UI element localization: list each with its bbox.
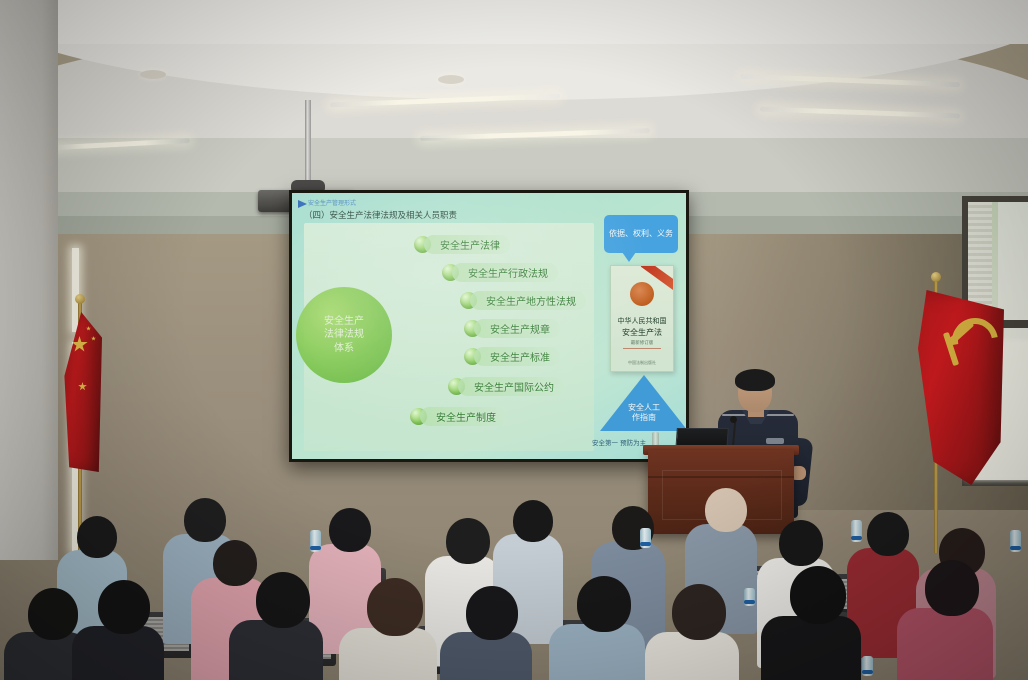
microphone-icon bbox=[730, 416, 737, 423]
bottle-label bbox=[640, 542, 651, 546]
item-label: 安全生产国际公约 bbox=[474, 379, 554, 394]
audience-head bbox=[98, 580, 150, 634]
book-subtitle: 最新修订版 bbox=[611, 340, 673, 346]
slide-speech-bubble: 依据、权利、义务 bbox=[604, 215, 678, 253]
book-title-line-2: 安全生产法 bbox=[611, 327, 673, 338]
bottle-label bbox=[310, 546, 321, 550]
circle-line-2: 法律法规 bbox=[324, 328, 364, 342]
flagpole-finial-left bbox=[75, 294, 85, 304]
left-pillar bbox=[0, 0, 58, 560]
book-title-line-1: 中华人民共和国 bbox=[611, 316, 673, 326]
speech-bubble-tail-icon bbox=[622, 252, 636, 262]
triangle-line-1: 安全人工 bbox=[602, 403, 686, 413]
audience-torso bbox=[72, 626, 164, 680]
audience-head bbox=[867, 512, 909, 556]
item-label: 安全生产标准 bbox=[490, 349, 550, 364]
audience-head bbox=[577, 576, 631, 632]
law-book-image: 中华人民共和国 安全生产法 最新修订版 中国法制出版社 bbox=[610, 265, 674, 372]
projector-mount-pole bbox=[305, 100, 311, 184]
item-pill: 安全生产地方性法规 bbox=[470, 291, 586, 310]
flagpole-finial-right bbox=[931, 272, 941, 282]
ceiling-downlight bbox=[140, 70, 166, 79]
audience-head bbox=[213, 540, 257, 586]
item-label: 安全生产地方性法规 bbox=[486, 293, 576, 308]
item-pill: 安全生产国际公约 bbox=[458, 377, 564, 396]
slide-list-item: 安全生产制度 bbox=[410, 405, 506, 427]
item-label: 安全生产制度 bbox=[436, 409, 496, 424]
projection-screen: 安全生产管理形式 （四）安全生产法律法规及相关人员职责 安全生产 法律法规 体系… bbox=[289, 190, 689, 462]
item-pill: 安全生产行政法规 bbox=[452, 263, 558, 282]
presenter-hair bbox=[735, 369, 775, 391]
slide-list-item: 安全生产规章 bbox=[464, 317, 560, 339]
item-label: 安全生产法律 bbox=[440, 237, 500, 252]
bottle-label bbox=[851, 536, 862, 540]
audience-head bbox=[466, 586, 518, 640]
audience-head bbox=[367, 578, 423, 636]
item-label: 安全生产行政法规 bbox=[468, 265, 548, 280]
lecture-room-photo: 安全生产管理形式 （四）安全生产法律法规及相关人员职责 安全生产 法律法规 体系… bbox=[0, 0, 1028, 680]
bottle-label bbox=[862, 670, 873, 674]
item-pill: 安全生产规章 bbox=[474, 319, 560, 338]
bottle-label bbox=[744, 600, 755, 604]
book-rule bbox=[623, 348, 661, 349]
slide-header-small: 安全生产管理形式 bbox=[308, 198, 356, 207]
audience-head bbox=[705, 488, 747, 532]
audience-head bbox=[256, 572, 310, 628]
national-emblem-icon bbox=[630, 282, 654, 306]
ceiling-downlight bbox=[438, 75, 464, 84]
audience-torso bbox=[549, 624, 645, 680]
slide-list-item: 安全生产标准 bbox=[464, 345, 560, 367]
item-pill: 安全生产法律 bbox=[424, 235, 510, 254]
slide-title: （四）安全生产法律法规及相关人员职责 bbox=[304, 209, 457, 221]
book-publisher: 中国法制出版社 bbox=[611, 360, 673, 366]
audience-head bbox=[925, 560, 979, 616]
item-pill: 安全生产制度 bbox=[420, 407, 506, 426]
audience-torso bbox=[229, 620, 323, 680]
audience-head bbox=[446, 518, 490, 564]
slide-list-item: 安全生产行政法规 bbox=[442, 261, 558, 283]
slide-surface: 安全生产管理形式 （四）安全生产法律法规及相关人员职责 安全生产 法律法规 体系… bbox=[292, 193, 686, 459]
presenter-shirt-logo bbox=[766, 438, 784, 444]
audience-head bbox=[672, 584, 726, 640]
circle-line-3: 体系 bbox=[334, 342, 354, 356]
audience-head bbox=[790, 566, 846, 624]
slide-list-item: 安全生产国际公约 bbox=[448, 375, 564, 397]
circle-line-1: 安全生产 bbox=[324, 315, 364, 329]
slide-header-arrow-icon bbox=[298, 200, 307, 208]
audience-head bbox=[184, 498, 226, 542]
audience-torso bbox=[761, 616, 861, 680]
item-pill: 安全生产标准 bbox=[474, 347, 560, 366]
triangle-label: 安全人工 作指南 bbox=[602, 403, 686, 424]
item-label: 安全生产规章 bbox=[490, 321, 550, 336]
triangle-line-2: 作指南 bbox=[602, 413, 686, 423]
audience-head bbox=[779, 520, 823, 566]
slide-list-item: 安全生产地方性法规 bbox=[460, 289, 586, 311]
slide-footer: 安全第一 预防为主 bbox=[592, 437, 646, 447]
slide-list-item: 安全生产法律 bbox=[414, 233, 510, 255]
audience-head bbox=[513, 500, 553, 542]
audience-torso bbox=[897, 608, 993, 680]
slide-center-circle: 安全生产 法律法规 体系 bbox=[296, 287, 392, 383]
audience-head bbox=[28, 588, 78, 640]
ceiling-flat bbox=[0, 0, 1028, 44]
bottle-label bbox=[1010, 546, 1021, 550]
audience-head bbox=[77, 516, 117, 558]
audience-head bbox=[329, 508, 371, 552]
audience-torso bbox=[339, 628, 437, 680]
